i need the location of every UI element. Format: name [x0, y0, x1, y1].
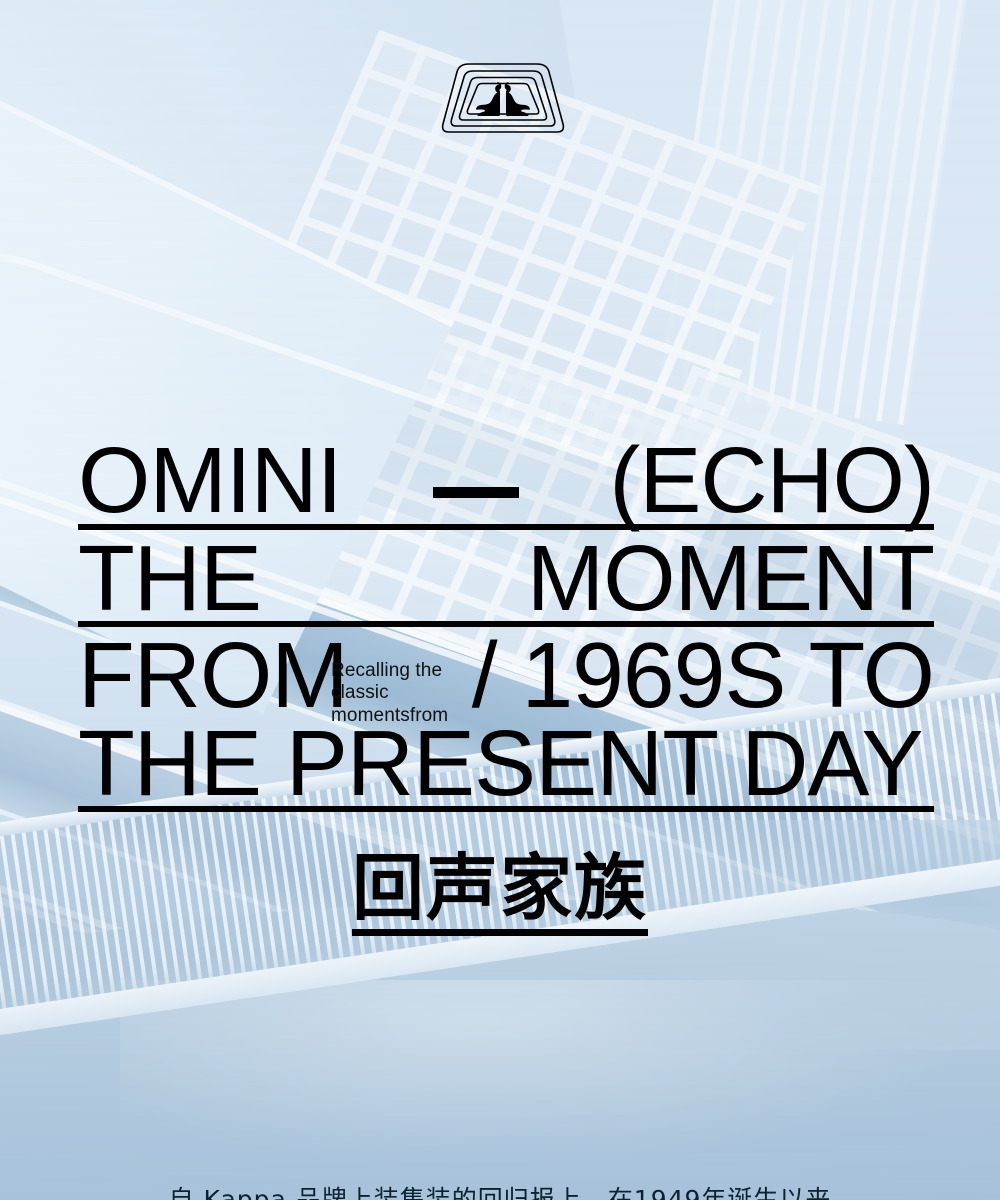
chinese-title-rule — [352, 929, 648, 936]
side-note-line-3: momentsfrom — [331, 705, 481, 727]
chinese-title: 回声家族 — [352, 852, 648, 936]
headline-present-day: THE PRESENT DAY — [78, 711, 923, 815]
poster-content: OMINI (ECHO) THE MOMENT FROM / 1969S TO … — [0, 0, 1000, 1200]
kappa-seated-figures — [476, 82, 530, 116]
headline-line-1: OMINI (ECHO) — [78, 438, 934, 524]
headline-echo: (ECHO) — [609, 438, 934, 524]
side-note-line-2: classic — [331, 682, 481, 704]
chinese-title-wrap: 回声家族 — [0, 852, 1000, 936]
headline-omini: OMINI — [78, 438, 342, 524]
headline-from: FROM — [78, 633, 348, 719]
headline-line-3: FROM / 1969S TO — [78, 633, 934, 719]
headline-em-dash — [433, 487, 519, 498]
side-note: Recalling the classic momentsfrom — [331, 660, 481, 727]
headline-block: OMINI (ECHO) THE MOMENT FROM / 1969S TO … — [78, 438, 934, 812]
headline-1969s-to: / 1969S TO — [472, 633, 934, 719]
headline-moment: MOMENT — [527, 536, 934, 622]
footer-paragraph: 自 Kappa 品牌上装集装的回归报上，在1949年诞生以来 — [0, 1180, 1000, 1200]
kappa-logo — [437, 58, 569, 142]
headline-line-2: THE MOMENT — [78, 536, 934, 622]
headline-the: THE — [78, 536, 261, 622]
chinese-title-text: 回声家族 — [352, 846, 648, 930]
poster-canvas: OMINI (ECHO) THE MOMENT FROM / 1969S TO … — [0, 0, 1000, 1200]
side-note-line-1: Recalling the — [331, 660, 481, 682]
headline-line-4: THE PRESENT DAY — [78, 721, 934, 807]
